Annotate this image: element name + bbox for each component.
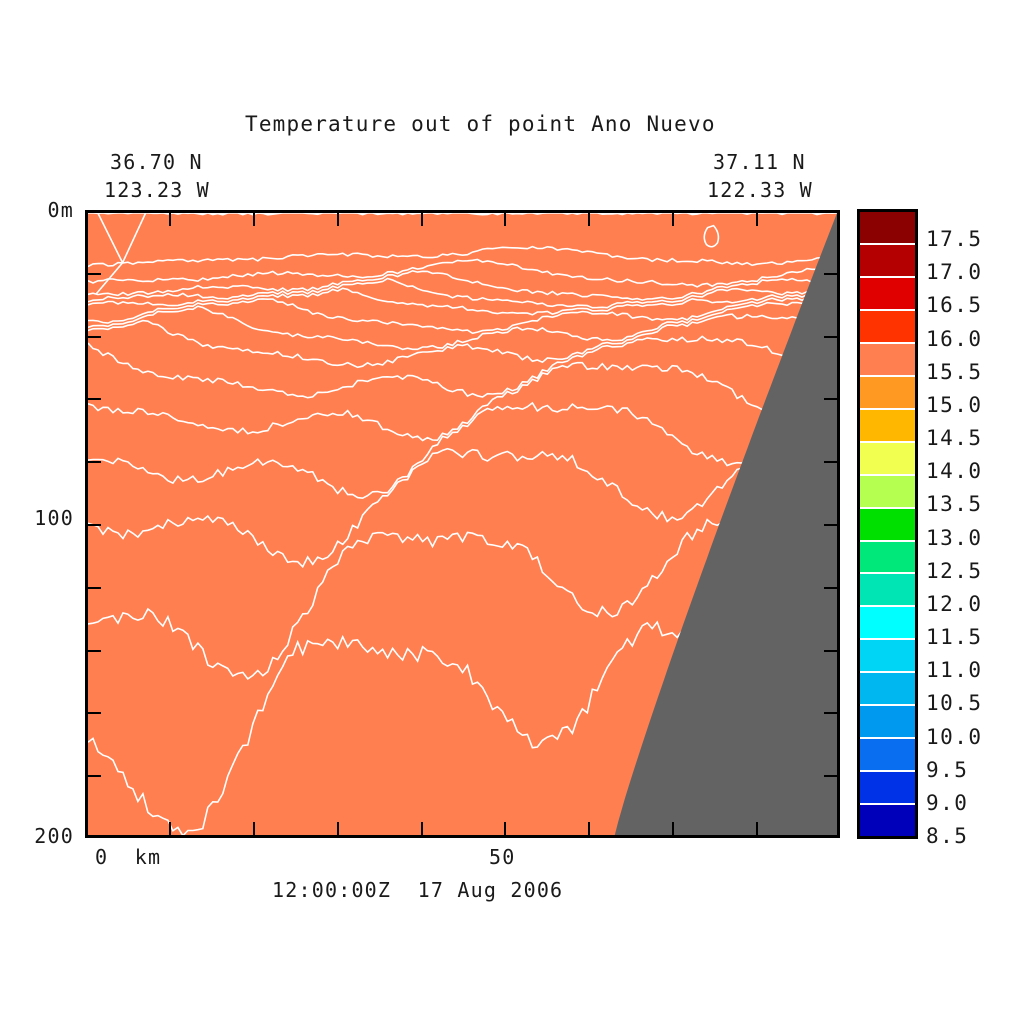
colorbar-tick-label: 9.5 (926, 758, 968, 782)
axis-tick (337, 213, 339, 226)
axis-tick (588, 213, 590, 226)
axis-tick (253, 213, 255, 226)
axis-tick (756, 213, 758, 226)
axis-tick (824, 398, 837, 400)
axis-tick (824, 524, 837, 526)
colorbar-band-group (860, 212, 915, 836)
colorbar-tick-label: 16.0 (926, 327, 983, 351)
axis-tick (88, 712, 101, 714)
warm-anomaly-blob (704, 226, 718, 247)
colorbar-band (860, 739, 915, 772)
colorbar-band (860, 410, 915, 443)
temperature-contour-svg (88, 213, 837, 835)
colorbar-label-group: 17.517.016.516.015.515.014.514.013.513.0… (926, 209, 1022, 839)
axis-tick (253, 822, 255, 835)
colorbar-band (860, 640, 915, 673)
colorbar-band (860, 574, 915, 607)
colorbar-band (860, 509, 915, 542)
axis-tick (88, 273, 101, 275)
coordinate-left-latitude: 36.70 N (110, 150, 203, 174)
colorbar-tick-label: 14.5 (926, 426, 983, 450)
contour-plot-area (85, 210, 840, 838)
axis-tick (672, 822, 674, 835)
colorbar-band (860, 377, 915, 410)
colorbar-band (860, 673, 915, 706)
colorbar-tick-label: 8.5 (926, 824, 968, 848)
axis-tick (824, 336, 837, 338)
colorbar-tick-label: 11.0 (926, 658, 983, 682)
colorbar-band (860, 212, 915, 245)
axis-tick (88, 336, 101, 338)
axis-tick (824, 775, 837, 777)
colorbar-tick-label: 16.5 (926, 293, 983, 317)
y-axis-tick-label-0: 0m (0, 198, 74, 222)
x-axis-tick-label-0: 0 km (95, 845, 161, 869)
colorbar-band (860, 706, 915, 739)
axis-tick (824, 650, 837, 652)
colorbar-tick-label: 14.0 (926, 459, 983, 483)
colorbar-band (860, 344, 915, 377)
colorbar-tick-label: 13.0 (926, 526, 983, 550)
axis-tick (337, 822, 339, 835)
axis-tick (824, 273, 837, 275)
axis-tick (672, 213, 674, 226)
colorbar-tick-label: 17.0 (926, 260, 983, 284)
axis-tick (88, 398, 101, 400)
colorbar-band (860, 476, 915, 509)
axis-tick (824, 587, 837, 589)
figure-root: Temperature out of point Ano Nuevo 36.70… (0, 0, 1024, 1024)
colorbar-band (860, 772, 915, 805)
axis-tick (824, 461, 837, 463)
colorbar-band (860, 311, 915, 344)
y-axis-tick-label-100: 100 (0, 506, 74, 530)
colorbar (857, 209, 918, 839)
axis-tick (504, 822, 506, 835)
colorbar-tick-label: 15.0 (926, 393, 983, 417)
colorbar-tick-label: 15.5 (926, 360, 983, 384)
axis-tick (169, 822, 171, 835)
colorbar-tick-label: 17.5 (926, 227, 983, 251)
colorbar-tick-label: 12.0 (926, 592, 983, 616)
axis-tick (169, 213, 171, 226)
axis-tick (504, 213, 506, 226)
x-axis-tick-label-50: 50 (489, 845, 515, 869)
axis-tick (88, 524, 101, 526)
coordinate-right-latitude: 37.11 N (713, 150, 806, 174)
y-axis-tick-label-200: 200 (0, 824, 74, 848)
coordinate-left-longitude: 123.23 W (104, 178, 210, 202)
colorbar-tick-label: 10.0 (926, 725, 983, 749)
colorbar-band (860, 542, 915, 575)
page-title: Temperature out of point Ano Nuevo (245, 112, 716, 136)
axis-tick (421, 822, 423, 835)
colorbar-tick-label: 10.5 (926, 691, 983, 715)
colorbar-tick-label: 11.5 (926, 625, 983, 649)
colorbar-band (860, 443, 915, 476)
axis-tick (421, 213, 423, 226)
colorbar-tick-label: 12.5 (926, 559, 983, 583)
colorbar-band (860, 607, 915, 640)
colorbar-band (860, 805, 915, 836)
colorbar-tick-label: 9.0 (926, 791, 968, 815)
axis-tick (88, 650, 101, 652)
colorbar-band (860, 245, 915, 278)
axis-tick (88, 587, 101, 589)
axis-tick (824, 712, 837, 714)
colorbar-band (860, 278, 915, 311)
coordinate-right-longitude: 122.33 W (707, 178, 813, 202)
axis-tick (88, 775, 101, 777)
axis-tick (88, 461, 101, 463)
axis-tick (588, 822, 590, 835)
timestamp-label: 12:00:00Z 17 Aug 2006 (272, 878, 563, 902)
colorbar-tick-label: 13.5 (926, 492, 983, 516)
axis-tick (756, 822, 758, 835)
